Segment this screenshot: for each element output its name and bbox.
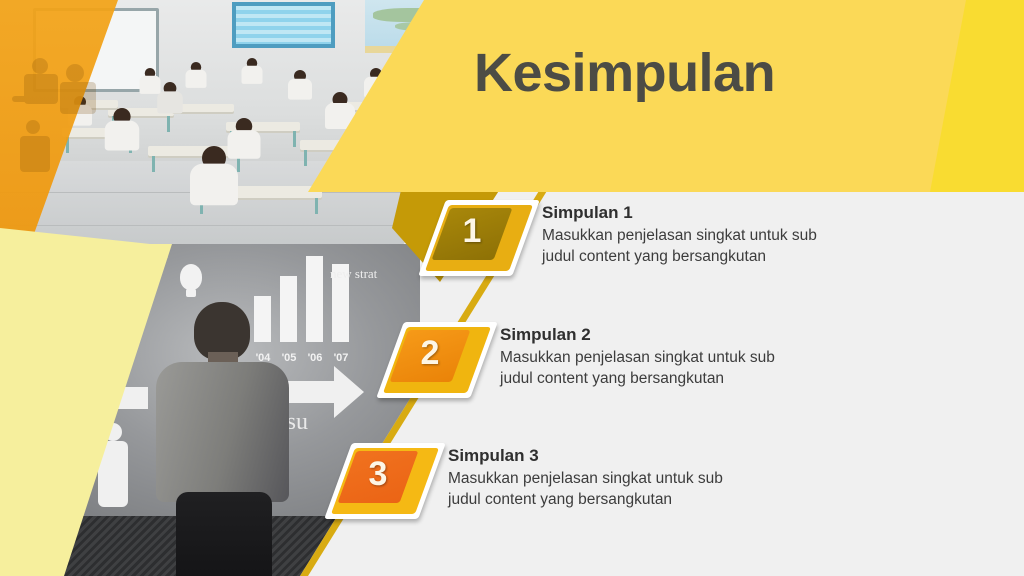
- item-heading-3: Simpulan 3: [448, 446, 848, 466]
- item-line1-1: Masukkan penjelasan singkat untuk sub: [542, 226, 942, 247]
- badge-number-2: 2: [390, 322, 470, 384]
- bar-label-3: '07: [328, 352, 354, 364]
- man-silhouette: [150, 302, 295, 576]
- student-silhouette-decor: [8, 52, 116, 182]
- number-badge-2: 2: [390, 322, 486, 400]
- number-badge-3: 3: [338, 443, 434, 521]
- badge-number-3: 3: [338, 443, 418, 505]
- item-line1-2: Masukkan penjelasan singkat untuk sub: [500, 348, 900, 369]
- badge-number-1: 1: [432, 200, 512, 262]
- item-line2-3: judul content yang bersangkutan: [448, 490, 848, 511]
- lightbulb-icon: [180, 264, 202, 290]
- item-heading-2: Simpulan 2: [500, 325, 900, 345]
- item-line2-1: judul content yang bersangkutan: [542, 247, 942, 268]
- number-badge-1: 1: [432, 200, 528, 278]
- page-title: Kesimpulan: [474, 42, 775, 104]
- item-line1-3: Masukkan penjelasan singkat untuk sub: [448, 469, 848, 490]
- item-line2-2: judul content yang bersangkutan: [500, 369, 900, 390]
- item-heading-1: Simpulan 1: [542, 203, 942, 223]
- new-strategy-text: new strat: [330, 266, 377, 282]
- bar-label-2: '06: [302, 352, 328, 364]
- presentation-slide: '04 '05 '06 '07 new strat ote to self in…: [0, 0, 1024, 576]
